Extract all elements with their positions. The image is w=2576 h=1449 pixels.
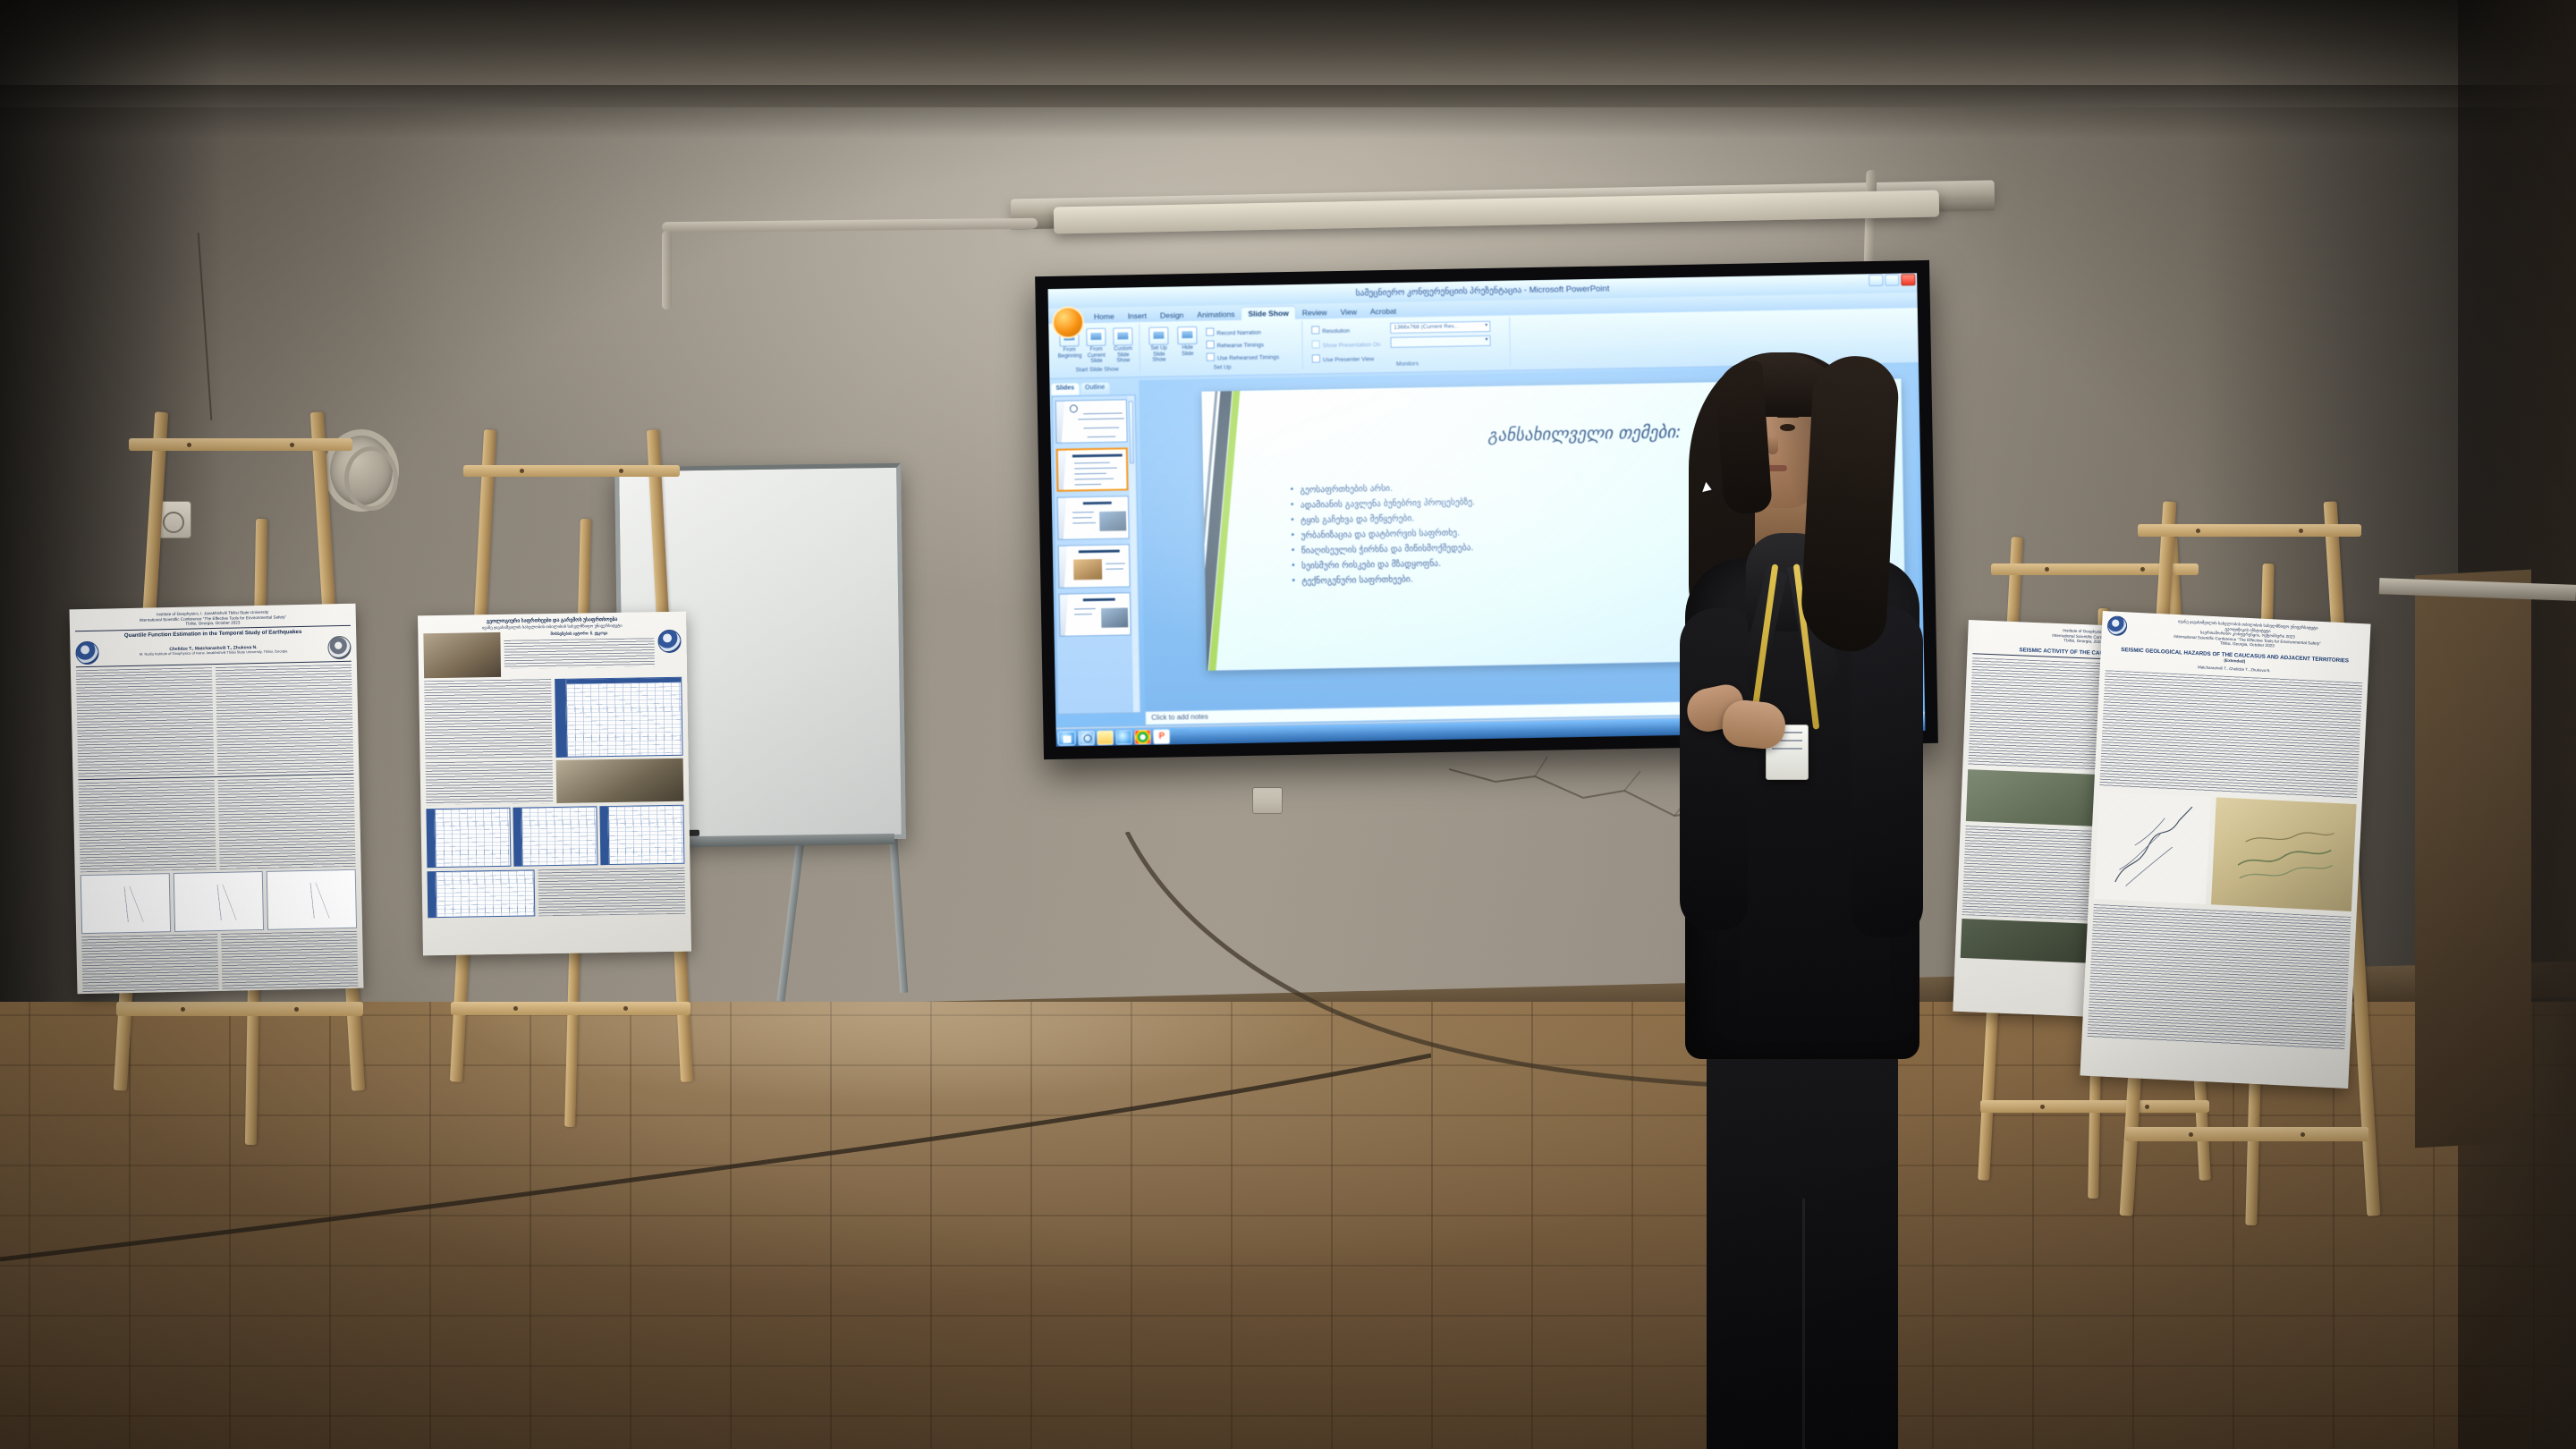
minimize-button[interactable] xyxy=(1868,275,1883,286)
custom-slide-show-button[interactable]: Custom Slide Show xyxy=(1111,327,1135,364)
institute-seal-icon xyxy=(327,636,352,660)
fault-sketch-icon xyxy=(2094,792,2211,904)
easel-crossbar-bottom xyxy=(451,1002,691,1015)
easel-crossbar-bottom xyxy=(116,1002,363,1016)
poster-text-column xyxy=(76,667,214,777)
thumb-title-bar xyxy=(1083,502,1112,505)
poster-text-column xyxy=(426,760,554,805)
group-label-set-up: Set Up xyxy=(1142,363,1302,372)
slide-thumbnail-3[interactable] xyxy=(1057,496,1130,539)
poster-figures xyxy=(80,869,357,934)
tab-home[interactable]: Home xyxy=(1088,309,1121,323)
slide-thumbnails-pane[interactable] xyxy=(1052,394,1142,715)
poster-data-table xyxy=(555,677,682,758)
start-button[interactable] xyxy=(1057,731,1075,745)
tab-design[interactable]: Design xyxy=(1154,309,1191,322)
poster-header: ივანე ჯავახიშვილის სახელობის თბილისის სა… xyxy=(2130,617,2365,654)
poster-conclusions xyxy=(81,931,358,994)
presenter-arm-left xyxy=(1680,608,1748,930)
table-grid xyxy=(436,869,536,918)
tab-slide-show[interactable]: Slide Show xyxy=(1241,307,1295,320)
conference-room-scene: სამეცნიერო კონფერენციის პრეზენტაცია - Mi… xyxy=(0,0,2576,1449)
thumb-decoration xyxy=(1059,547,1069,588)
poster-data-table xyxy=(426,808,511,868)
poster-text-column xyxy=(538,868,686,917)
thumb-photo xyxy=(1099,511,1126,531)
chrome-icon[interactable] xyxy=(1134,729,1150,743)
poster-text-column xyxy=(218,777,356,869)
thumb-decoration xyxy=(1058,498,1068,539)
poster-data-table xyxy=(428,869,536,918)
university-seal-icon xyxy=(657,630,681,653)
table-grid xyxy=(607,805,684,865)
thumb-title-bar xyxy=(1079,550,1120,554)
right-door-panel xyxy=(2415,570,2531,1148)
poster-left-back: გეოლოგიური საფრთხეები და გარემოს უსაფრთხ… xyxy=(418,612,691,956)
show-on-dropdown[interactable] xyxy=(1390,335,1490,348)
poster-left-front: Institute of Geophysics, I. Javakhishvil… xyxy=(70,604,364,995)
from-current-slide-label: From Current Slide xyxy=(1085,347,1108,365)
presenter xyxy=(1673,340,1995,1449)
slide-thumbnail-1[interactable] xyxy=(1055,399,1128,443)
restore-button[interactable] xyxy=(1885,275,1899,286)
presenter-trousers xyxy=(1707,1038,1898,1449)
record-narration-checkbox[interactable]: Record Narration xyxy=(1206,327,1261,337)
poster-text-column xyxy=(216,665,353,775)
ribbon-group-set-up: Set Up Slide Show Hide Slide Record Narr… xyxy=(1141,321,1303,372)
poster-right-front: ივანე ჯავახიშვილის სახელობის თბილისის სა… xyxy=(2080,611,2370,1089)
pane-tab-outline[interactable]: Outline xyxy=(1080,383,1109,395)
poster-figure xyxy=(174,871,264,932)
table-grid xyxy=(434,808,511,868)
poster-author-block: მოხსენების ავტორი: ნ. ჟუკოვა xyxy=(504,630,654,638)
poster-photo xyxy=(423,632,501,678)
search-icon[interactable] xyxy=(1078,731,1094,745)
ie-icon[interactable] xyxy=(1115,730,1131,744)
explorer-icon[interactable] xyxy=(1097,730,1113,744)
thumb-title-bar xyxy=(1083,598,1115,602)
set-up-slide-show-button[interactable]: Set Up Slide Show xyxy=(1147,326,1171,363)
poster-data-table xyxy=(513,806,597,866)
poster-text-column xyxy=(81,934,218,994)
resolution-label: Resolution xyxy=(1311,326,1350,335)
rehearse-timings-checkbox[interactable]: Rehearse Timings xyxy=(1206,340,1264,350)
table-grid xyxy=(521,806,597,866)
show-presentation-on-label: Show Presentation On xyxy=(1311,339,1380,349)
resolution-dropdown[interactable]: 1366x768 (Current Res... xyxy=(1390,321,1490,334)
group-label-start-slide-show: Start Slide Show xyxy=(1055,366,1140,374)
close-button[interactable] xyxy=(1901,274,1915,285)
poster-data-table xyxy=(599,805,684,865)
from-current-slide-button[interactable]: From Current Slide xyxy=(1084,328,1108,365)
outline-pane-tabs: Slides Outline xyxy=(1051,382,1128,395)
ceiling-shadow xyxy=(0,85,2576,139)
tab-acrobat[interactable]: Acrobat xyxy=(1364,305,1403,318)
thumb-photo xyxy=(1101,607,1128,628)
wall-outlet-secondary xyxy=(1252,787,1283,814)
ribbon-group-monitors: Resolution Show Presentation On Use Pres… xyxy=(1304,317,1511,369)
easel-crossbar-top xyxy=(463,465,680,477)
slide-thumbnail-5[interactable] xyxy=(1059,592,1131,636)
thumb-decoration xyxy=(1056,402,1066,443)
easel-crossbar-bottom xyxy=(2125,1127,2368,1141)
pane-tab-slides[interactable]: Slides xyxy=(1051,383,1079,395)
thumb-decoration xyxy=(1058,451,1068,490)
poster-text-column xyxy=(504,638,654,669)
poster-body-mid xyxy=(79,777,356,872)
slide-thumbnail-4[interactable] xyxy=(1058,544,1131,588)
thumb-logo-icon xyxy=(1070,404,1078,412)
easel-crossbar-top xyxy=(2138,524,2361,537)
tab-review[interactable]: Review xyxy=(1296,306,1334,319)
thumb-title-bar xyxy=(1072,453,1123,457)
poster-figure xyxy=(267,869,357,930)
hide-slide-label: Hide Slide xyxy=(1176,345,1199,357)
presenter-arm-right xyxy=(1851,606,1923,937)
tab-animations[interactable]: Animations xyxy=(1191,308,1241,321)
conduit-pipe-vertical xyxy=(662,231,672,309)
hide-slide-button[interactable]: Hide Slide xyxy=(1175,326,1199,357)
slide-thumbnail-2[interactable] xyxy=(1056,447,1129,491)
set-up-slide-show-icon xyxy=(1148,326,1168,344)
custom-slide-show-icon xyxy=(1113,327,1132,345)
window-title: სამეცნიერო კონფერენციის პრეზენტაცია - Mi… xyxy=(1356,284,1610,298)
poster-text-column xyxy=(221,931,358,991)
tab-view[interactable]: View xyxy=(1334,305,1363,318)
poster-text-column xyxy=(424,679,552,759)
poster-text-column xyxy=(2099,671,2362,800)
thumb-photo xyxy=(1073,559,1102,580)
poster-photo xyxy=(556,758,684,803)
poster-figure xyxy=(80,873,171,934)
hide-slide-icon xyxy=(1177,326,1197,344)
poster-text-column xyxy=(2088,904,2351,1051)
thumb-decoration xyxy=(1060,595,1070,636)
from-beginning-label: From Beginning xyxy=(1058,347,1081,359)
presenter-hair-right xyxy=(1799,354,1900,654)
window-controls xyxy=(1868,274,1915,286)
set-up-slide-show-label: Set Up Slide Show xyxy=(1148,345,1171,363)
poster-text-column xyxy=(79,780,216,872)
relief-map-icon xyxy=(2211,798,2356,912)
custom-slide-show-label: Custom Slide Show xyxy=(1112,346,1135,364)
poster-figure-relief-map xyxy=(2211,798,2356,912)
poster-body xyxy=(76,665,353,777)
easel-crossbar-top xyxy=(129,438,352,451)
tab-insert[interactable]: Insert xyxy=(1122,309,1154,323)
from-current-slide-icon xyxy=(1086,328,1106,346)
use-rehearsed-timings-checkbox[interactable]: Use Rehearsed Timings xyxy=(1207,352,1280,361)
institute-seal-icon xyxy=(2107,615,2128,636)
poster-figure-fault-sketch xyxy=(2094,792,2211,904)
table-cells xyxy=(566,682,682,757)
powerpoint-icon[interactable] xyxy=(1153,729,1169,743)
university-seal-icon xyxy=(75,641,99,665)
table-grid xyxy=(565,677,682,758)
